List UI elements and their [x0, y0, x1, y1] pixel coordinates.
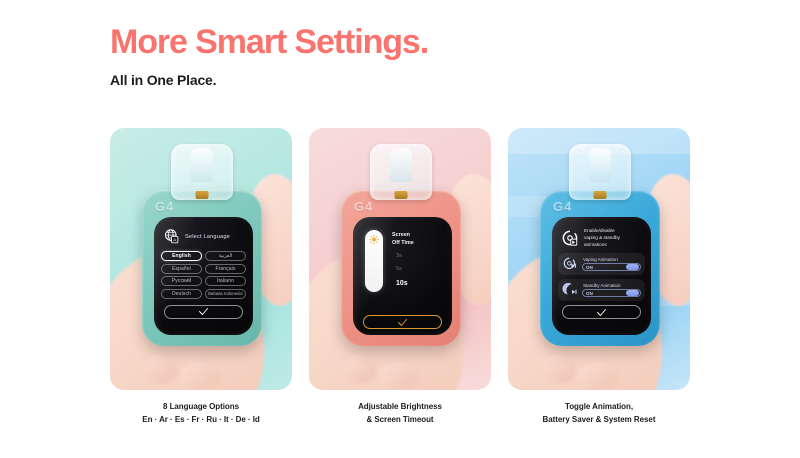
- checkmark-icon: [197, 307, 210, 316]
- setting-label: Standby Animation: [582, 283, 641, 288]
- sun-brightness-icon: [369, 234, 380, 245]
- fingertip-shape: [542, 354, 576, 384]
- vaping-animation-icon: [562, 256, 578, 272]
- page-root: More Smart Settings. All in One Place. G…: [0, 0, 800, 458]
- device-brand-logo: G4: [354, 199, 373, 214]
- feature-panel-row: G4 A Select Language: [110, 128, 690, 390]
- language-option[interactable]: Español: [161, 264, 202, 274]
- setting-row-body: Vaping Animation ON: [582, 257, 641, 272]
- screen-header: Enable/disable vaping & standby animatio…: [561, 227, 643, 248]
- screen-title-line2: Off Time: [392, 240, 414, 248]
- caption-line2: Battery Saver & System Reset: [508, 413, 690, 426]
- device-screen-language[interactable]: A Select Language English العربية Españo…: [154, 217, 253, 335]
- caption-line1: Adjustable Brightness: [309, 400, 491, 413]
- language-option[interactable]: العربية: [205, 251, 246, 261]
- screen-title: Screen Off Time: [392, 232, 414, 248]
- screen-title: Select Language: [185, 234, 230, 240]
- timeout-option[interactable]: 3s: [392, 254, 414, 260]
- checkmark-icon: [396, 318, 409, 327]
- brightness-layout: Screen Off Time 3s 5s 10s: [359, 223, 446, 329]
- fingertip-shape: [180, 362, 220, 390]
- caption-line2: & Screen Timeout: [309, 413, 491, 426]
- page-title: More Smart Settings.: [110, 24, 428, 61]
- screen-header: A Select Language: [163, 228, 247, 245]
- device-brand-logo: G4: [155, 199, 174, 214]
- globe-language-icon: A: [163, 228, 180, 245]
- device-brand-logo: G4: [553, 199, 572, 214]
- toggle-state-label: ON: [586, 265, 593, 270]
- device-body: G4: [341, 190, 461, 346]
- language-option[interactable]: Français: [205, 264, 246, 274]
- language-option[interactable]: Русский: [161, 276, 202, 286]
- feature-panel-brightness[interactable]: G4: [309, 128, 491, 390]
- brightness-slider[interactable]: [365, 230, 383, 292]
- caption-line2: En · Ar · Es · Fr · Ru · It · De · Id: [110, 413, 292, 426]
- language-option[interactable]: Bahasa Indonesia: [205, 289, 246, 299]
- setting-label: Vaping Animation: [582, 257, 641, 262]
- confirm-button[interactable]: [363, 315, 442, 329]
- checkmark-icon: [595, 308, 608, 317]
- caption-animation: Toggle Animation, Battery Saver & System…: [508, 400, 690, 426]
- language-option[interactable]: Deutsch: [161, 289, 202, 299]
- device-screen-animation[interactable]: Enable/disable vaping & standby animatio…: [552, 217, 651, 335]
- screen-title: Enable/disable vaping & standby animatio…: [584, 227, 620, 248]
- language-option[interactable]: English: [161, 251, 202, 261]
- device-body: G4 Enable/disable vaping & standby ani: [540, 190, 660, 346]
- caption-row: 8 Language Options En · Ar · Es · Fr · R…: [110, 400, 690, 426]
- setting-row-vaping-animation[interactable]: Vaping Animation ON: [558, 253, 645, 275]
- screen-title-line2: vaping & standby: [584, 234, 620, 241]
- caption-line1: 8 Language Options: [110, 400, 292, 413]
- screen-title-line1: Screen: [392, 232, 414, 240]
- setting-row-standby-animation[interactable]: Standby Animation ON: [558, 279, 645, 301]
- pod-mouthpiece: [171, 144, 233, 200]
- fingertip-shape: [144, 354, 178, 384]
- caption-brightness: Adjustable Brightness & Screen Timeout: [309, 400, 491, 426]
- pod-mouthpiece: [370, 144, 432, 200]
- animation-settings-icon: [561, 229, 579, 247]
- screen-title-line3: animations: [584, 241, 620, 248]
- timeout-option[interactable]: 10s: [392, 280, 414, 287]
- page-subtitle: All in One Place.: [110, 72, 216, 88]
- fingertip-shape: [379, 362, 419, 390]
- timeout-option[interactable]: 5s: [392, 267, 414, 273]
- confirm-button[interactable]: [562, 305, 641, 319]
- device-body: G4 A Select Language: [142, 190, 262, 346]
- standby-moon-icon: [562, 282, 578, 298]
- toggle-knob[interactable]: [626, 264, 639, 270]
- toggle-switch[interactable]: ON: [582, 289, 641, 297]
- pod-mouthpiece: [569, 144, 631, 200]
- toggle-state-label: ON: [586, 291, 593, 296]
- fingertip-shape: [578, 362, 618, 390]
- language-option-grid: English العربية Español Français Русский…: [160, 251, 247, 299]
- toggle-switch[interactable]: ON: [582, 263, 641, 271]
- caption-line1: Toggle Animation,: [508, 400, 690, 413]
- feature-panel-language[interactable]: G4 A Select Language: [110, 128, 292, 390]
- screen-title-line1: Enable/disable: [584, 227, 620, 234]
- caption-language: 8 Language Options En · Ar · Es · Fr · R…: [110, 400, 292, 426]
- feature-panel-animation[interactable]: G4 Enable/disable vaping & standby ani: [508, 128, 690, 390]
- device-screen-brightness[interactable]: Screen Off Time 3s 5s 10s: [353, 217, 452, 335]
- setting-row-body: Standby Animation ON: [582, 283, 641, 298]
- fingertip-shape: [343, 354, 377, 384]
- language-option[interactable]: Italiano: [205, 276, 246, 286]
- confirm-button[interactable]: [164, 305, 243, 319]
- toggle-knob[interactable]: [626, 290, 639, 296]
